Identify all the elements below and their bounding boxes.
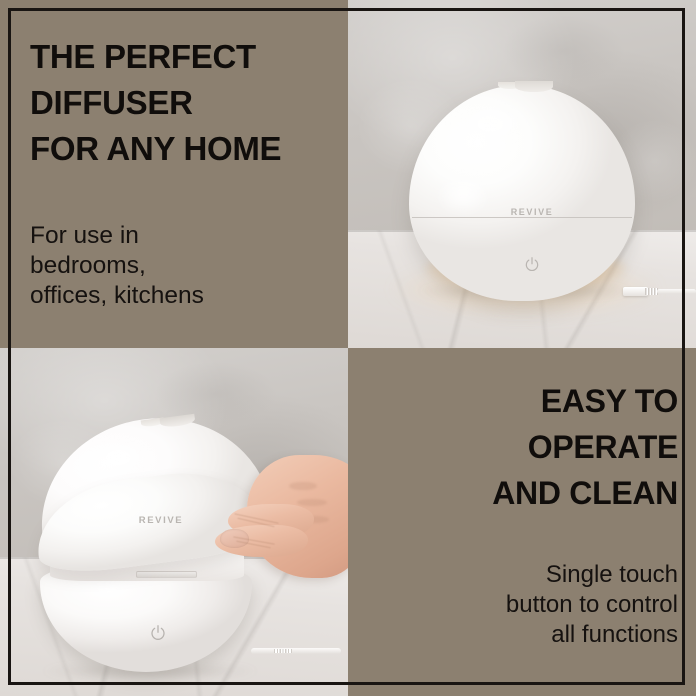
usb-cable: [251, 647, 341, 655]
subtext-line-2: button to control: [506, 590, 678, 620]
dome-highlight: [452, 101, 529, 146]
headline-line-2: DIFFUSER: [30, 80, 330, 126]
cell-top-left: THE PERFECT DIFFUSER FOR ANY HOME For us…: [0, 0, 348, 348]
diffuser-open-photo: Max REVIVE: [0, 348, 348, 696]
cell-bottom-right: EASY TO OPERATE AND CLEAN Single touch b…: [348, 348, 696, 696]
power-icon: [524, 256, 541, 273]
headline-line-3: AND CLEAN: [492, 470, 678, 516]
lid-highlight: [84, 438, 154, 476]
quadrant-grid: THE PERFECT DIFFUSER FOR ANY HOME For us…: [0, 0, 696, 696]
bottom-right-text-panel: EASY TO OPERATE AND CLEAN Single touch b…: [348, 348, 696, 696]
usb-plug-ribs: [274, 649, 292, 653]
usb-cable: [623, 287, 696, 296]
diffuser-assembled-photo: REVIVE: [348, 0, 696, 348]
water-level-window: [136, 571, 197, 578]
top-left-text-panel: THE PERFECT DIFFUSER FOR ANY HOME For us…: [0, 0, 348, 348]
subtext-line-2: bedrooms,: [30, 251, 330, 281]
subtext-line-3: all functions: [551, 620, 678, 650]
knuckle: [289, 482, 316, 491]
headline-line-2: OPERATE: [528, 424, 678, 470]
cell-bottom-left: Max REVIVE: [0, 348, 348, 696]
subtext-line-1: Single touch: [546, 560, 678, 590]
hand-holding-lid: [205, 449, 348, 595]
headline-line-3: FOR ANY HOME: [30, 126, 330, 172]
headline-line-1: EASY TO: [541, 378, 678, 424]
usb-wire: [251, 648, 341, 654]
subtext-line-3: offices, kitchens: [30, 281, 330, 311]
brand-label: REVIVE: [358, 207, 696, 217]
product-feature-collage: THE PERFECT DIFFUSER FOR ANY HOME For us…: [0, 0, 696, 696]
headline-line-1: THE PERFECT: [30, 34, 330, 80]
knuckle: [297, 499, 327, 506]
cell-top-right: REVIVE: [348, 0, 696, 348]
usb-plug-ribs: [645, 288, 658, 295]
top-notch-right: [515, 81, 553, 92]
subtext-line-1: For use in: [30, 221, 330, 251]
usb-wire: [657, 289, 696, 294]
power-icon: [149, 624, 167, 642]
